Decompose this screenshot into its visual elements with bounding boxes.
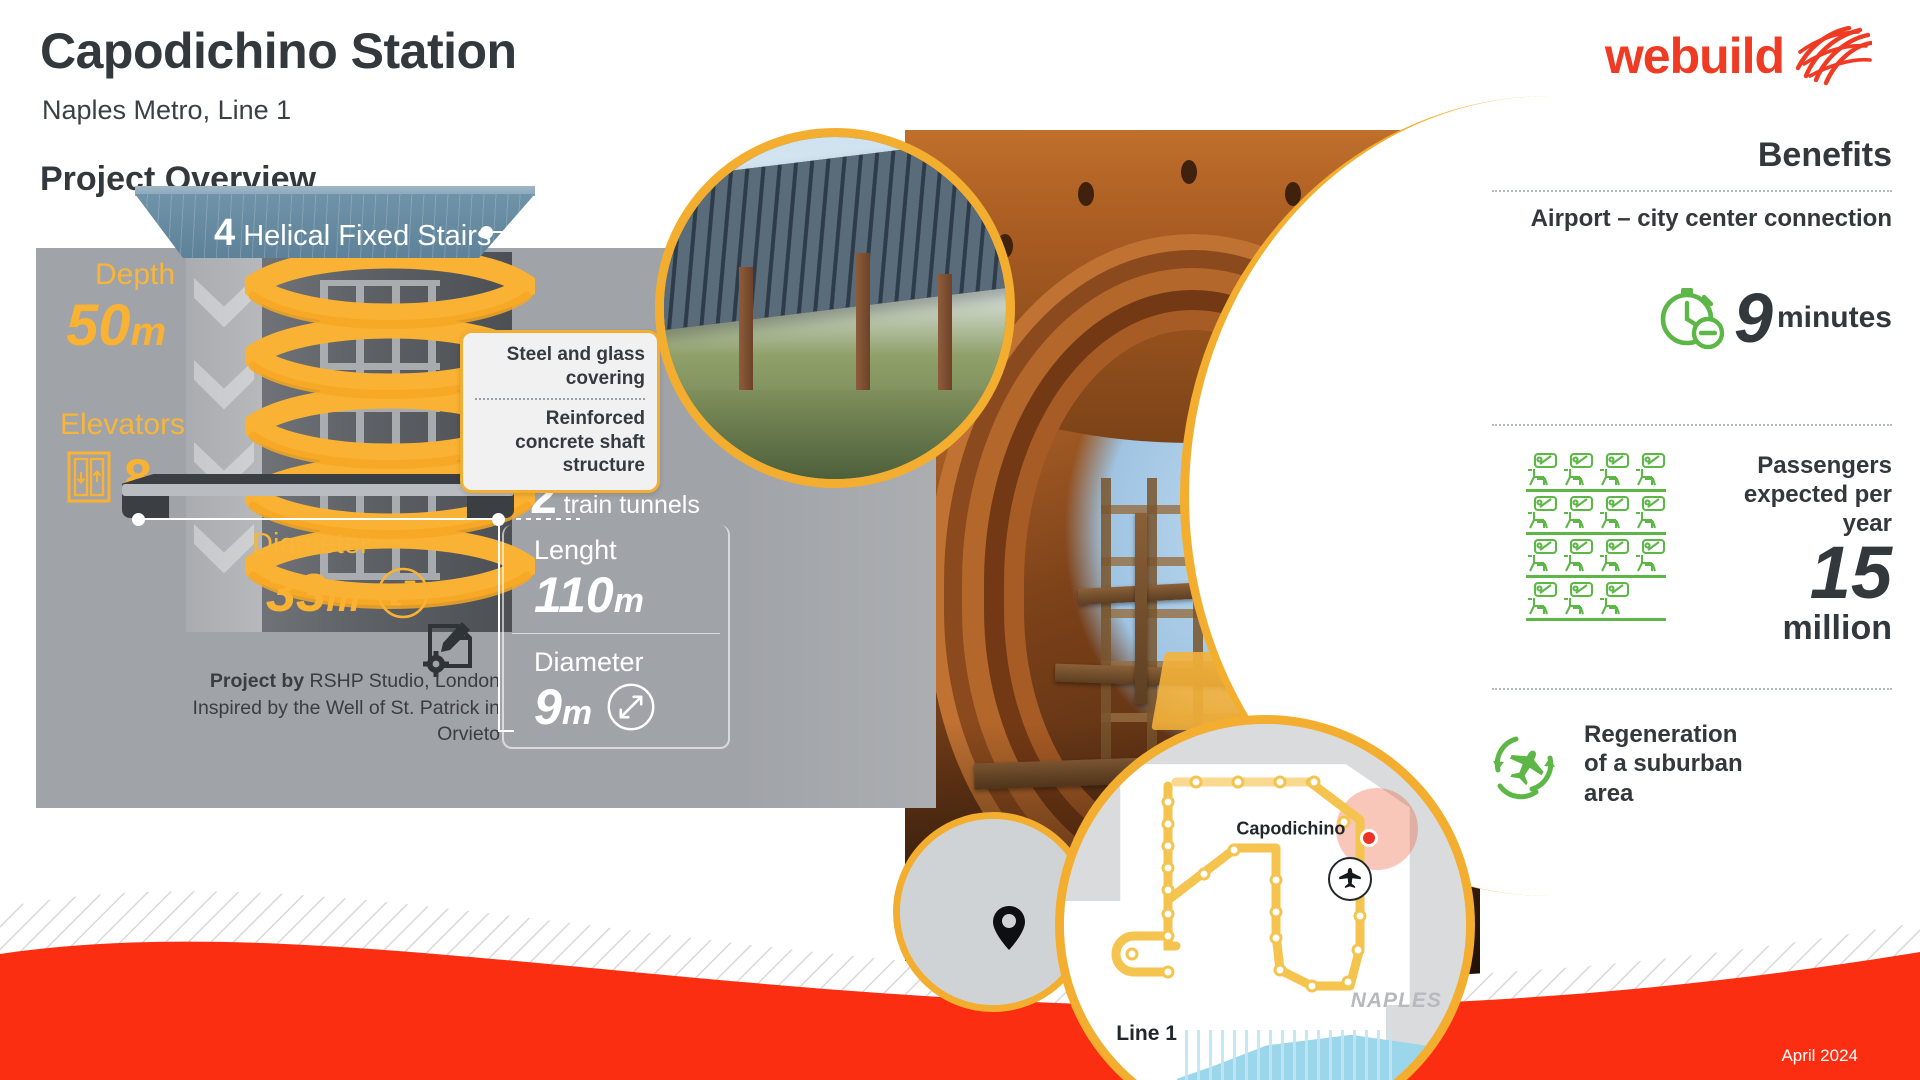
airport-badge [1328,857,1372,901]
connection-minutes-value: 9 [1734,278,1773,358]
diagonal-arrows-circle-icon [606,682,656,732]
benefit-value-connection: 9 minutes [1656,278,1892,358]
tunnel-diameter-label: Diameter [534,647,656,678]
helical-stairs-count: 4 [214,212,235,254]
canopy-photo-circle [655,128,1015,488]
shaft-diameter-value: 33m [266,562,360,624]
webuild-logo: webuild [1605,26,1872,86]
diagonal-arrows-circle-icon [376,566,430,620]
shaft-diameter-row: 33m [266,562,430,624]
helical-stairs-label: 4 Helical Fixed Stairs [214,212,491,255]
project-inspiration: Inspired by the Well of St. Patrick in O… [180,695,500,748]
passenger-pictogram-row [1526,452,1666,492]
callout-line-2: Reinforced concrete shaft structure [475,407,645,478]
benefits-divider-3 [1492,688,1892,690]
logo-wordmark: webuild [1605,31,1784,81]
connection-minutes-unit: minutes [1777,301,1892,335]
tunnel-diameter-item: Diameter 9m [534,647,656,736]
page-title: Capodichino Station [40,22,517,80]
callout-connector-dot [480,226,493,239]
project-by-label: Project by [210,670,304,692]
tunnel-leader-dots [516,518,580,520]
metro-line-label: Line 1 [1116,1022,1177,1046]
passenger-pictogram-row [1526,581,1666,621]
naples-city-label: NAPLES [1351,989,1442,1013]
capodichino-station-marker [1360,829,1378,847]
benefit-heading-connection: Airport – city center connection [1492,205,1892,234]
depth-label: Depth [95,258,175,292]
benefit-heading-passengers: Passengers expected per year [1692,452,1892,538]
stopwatch-icon [1656,281,1730,355]
tunnel-stats-box: Lenght 110m Diameter 9m [502,525,730,749]
passenger-pictogram-row [1526,538,1666,578]
project-by-studio: RSHP Studio, London [304,670,500,692]
depth-number: 50 [66,293,131,358]
airplane-icon [1337,866,1363,892]
passenger-pictogram-row [1526,495,1666,535]
depth-value: 50m [66,292,166,359]
diameter-dimension-line [138,518,498,520]
train-tunnels-label: train tunnels [564,491,700,519]
callout-divider [475,398,645,400]
naples-metro-map: Capodichino NAPLES Line 1 [1055,715,1475,1080]
callout-connector-line [493,231,565,233]
materials-callout-box: Steel and glass covering Reinforced conc… [460,330,660,493]
webuild-swoosh-icon [1794,26,1872,86]
elevators-label: Elevators [60,408,185,442]
page-subtitle: Naples Metro, Line 1 [42,95,291,126]
tunnel-length-label: Lenght [534,535,644,566]
helical-stairs-text: Helical Fixed Stairs [243,220,491,252]
depth-unit: m [131,310,167,354]
elevator-doors-icon [66,450,112,504]
tunnel-length-item: Lenght 110m [534,535,644,624]
passengers-unit: million [1692,609,1892,648]
project-by-line: Project by RSHP Studio, London [180,668,500,695]
passengers-value: 15 [1692,538,1892,608]
shaft-diameter-label: Diameter [252,528,370,561]
callout-line-1: Steel and glass covering [475,343,645,390]
tunnel-diameter-value: 9m [534,678,592,736]
benefit-passengers-row: Passengers expected per year 15 million [1526,452,1892,648]
project-credits: Project by RSHP Studio, London Inspired … [180,668,500,748]
dimension-endpoint-left [132,513,145,526]
shaft-base-slab [122,474,514,518]
capodichino-station-label: Capodichino [1236,818,1345,839]
infographic-canvas: Capodichino Station Naples Metro, Line 1… [0,0,1920,1080]
benefit-regeneration-row: Regeneration of a suburban area [1486,720,1760,808]
italy-map-pin-icon [992,905,1026,951]
tunnel-leader-line [498,520,500,732]
benefit-heading-regeneration: Regeneration of a suburban area [1584,720,1760,808]
publication-date: April 2024 [1781,1046,1858,1066]
benefits-divider-2 [1492,424,1892,426]
seated-passengers-icon [1526,452,1666,621]
tunnel-length-value: 110m [534,566,644,624]
benefits-divider-1 [1492,190,1892,192]
airplane-recycle-icon [1486,726,1562,802]
benefits-title: Benefits [1492,136,1892,175]
